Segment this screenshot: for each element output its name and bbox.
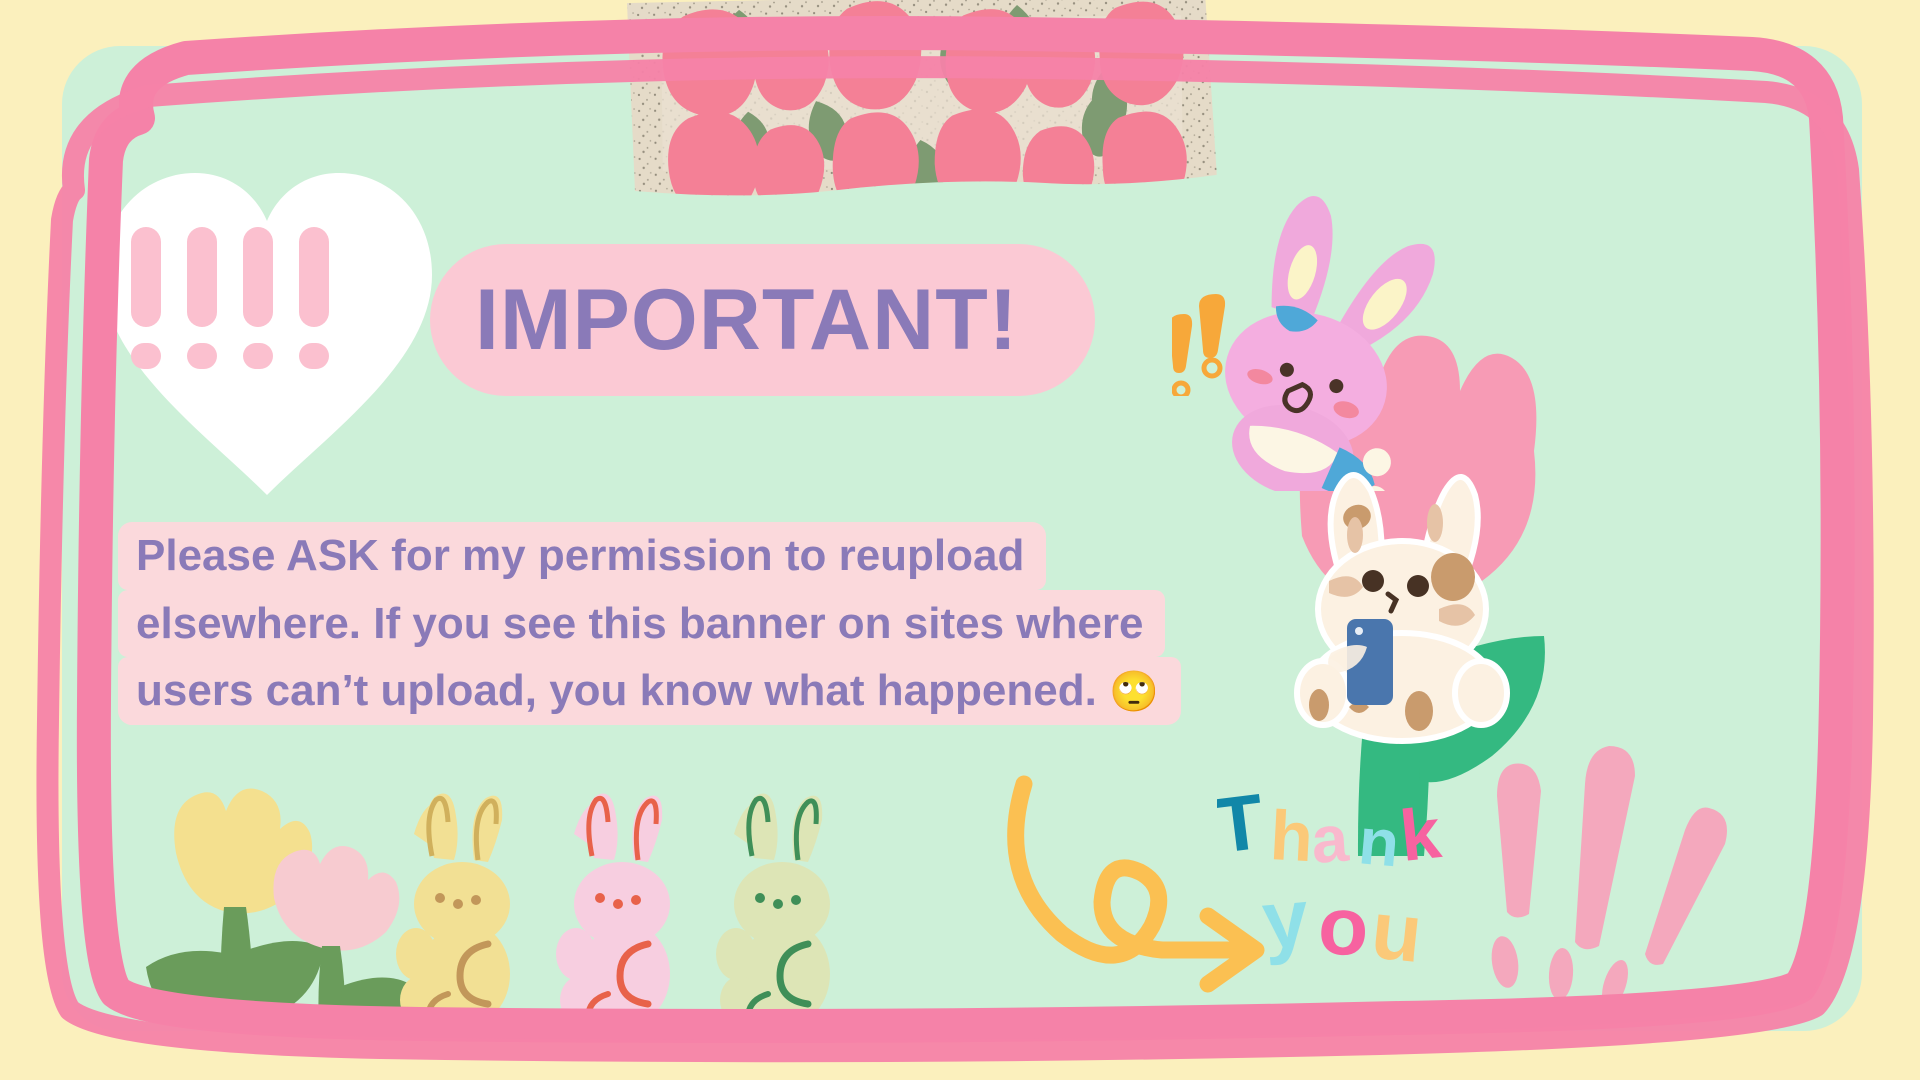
message-line-2: elsewhere. If you see this banner on sit… bbox=[118, 590, 1165, 658]
exclamation-marks-orange bbox=[1172, 286, 1252, 396]
thankyou-letter-u: u bbox=[1367, 884, 1426, 980]
gummy-bunny-sage bbox=[712, 786, 852, 1031]
gummy-bunny-pink bbox=[552, 786, 692, 1031]
gummy-bunny-yellow bbox=[392, 786, 532, 1031]
message-block: Please ASK for my permission to reupload… bbox=[118, 522, 1181, 725]
important-banner: IMPORTANT! bbox=[430, 244, 1095, 396]
thankyou-letter-y: y bbox=[1259, 872, 1313, 967]
face-with-rolling-eyes-icon: 🙄 bbox=[1109, 670, 1159, 714]
white-heart-sticker bbox=[95, 165, 440, 495]
page-title: IMPORTANT! bbox=[430, 277, 1018, 363]
message-line-1: Please ASK for my permission to reupload bbox=[118, 522, 1046, 590]
thankyou-letter-n: n bbox=[1356, 803, 1403, 880]
thankyou-letter-h: h bbox=[1268, 796, 1315, 876]
thankyou-letter-k: k bbox=[1396, 793, 1445, 877]
thankyou-letter-T: T bbox=[1217, 781, 1268, 870]
thankyou-letter-a: a bbox=[1309, 800, 1352, 876]
cream-bunny-phone-sticker bbox=[1287, 461, 1517, 746]
banner-canvas: T h a n k y o u bbox=[0, 0, 1920, 1080]
washi-tape-tulips bbox=[619, 0, 1221, 207]
message-line-3: users can’t upload, you know what happen… bbox=[118, 657, 1181, 725]
thankyou-letter-o: o bbox=[1316, 880, 1371, 973]
message-line-3-text: users can’t upload, you know what happen… bbox=[136, 666, 1109, 715]
thank-you-lettering: T h a n k y o u bbox=[1217, 781, 1517, 1006]
